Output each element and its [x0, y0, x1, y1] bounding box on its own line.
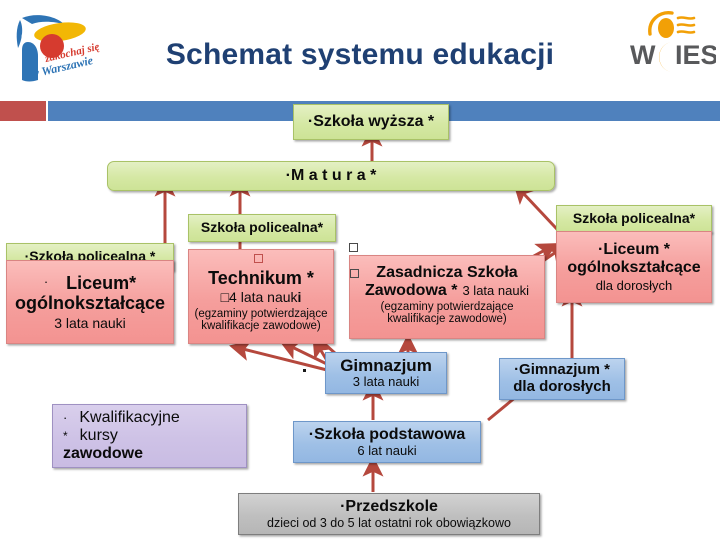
- node-zasadnicza-szkola-zawodowa[interactable]: Zasadnicza Szkoła Zawodowa * 3 lata nauk…: [349, 255, 545, 339]
- node-przedszkole[interactable]: ·Przedszkole dzieci od 3 do 5 lat ostatn…: [238, 493, 540, 535]
- zsz-square-bullet-left: [350, 269, 359, 278]
- node-matura-label: ·M a t u r a *: [286, 167, 377, 185]
- node-gimnazjum-doroslych-title: ·Gimnazjum *: [514, 362, 610, 379]
- header-band-red: [0, 101, 46, 121]
- node-szkola-policealna-right-label: Szkoła policealna*: [573, 211, 695, 227]
- liceum-bullet: ·: [44, 275, 48, 290]
- zakochaj-sie-w-warszawie-logo: zakochaj się w Warszawie: [6, 6, 102, 88]
- node-przedszkole-sub: dzieci od 3 do 5 lat ostatni rok obowiąz…: [267, 516, 511, 530]
- node-technikum-sub: □4 lata nauk: [221, 289, 298, 305]
- kursy-line-1: Kwalifikacyjne: [79, 409, 179, 427]
- node-zsz-sub: 3 lata nauki: [462, 284, 529, 299]
- node-szkola-wyzsza-label: ·Szkoła wyższa *: [308, 113, 434, 131]
- node-liceum-title2: ogólnokształcące: [15, 293, 165, 313]
- node-kwalifikacyjne-kursy-zawodowe[interactable]: · Kwalifikacyjne * kursy zawodowe: [52, 404, 247, 468]
- node-zsz-note1: (egzaminy potwierdzające: [381, 301, 514, 314]
- node-szkola-policealna-right[interactable]: Szkoła policealna*: [556, 205, 712, 233]
- page-title: Schemat systemu edukacji: [120, 32, 600, 78]
- node-gimnazjum-title: Gimnazjum: [340, 356, 432, 375]
- kursy-line-3: zawodowe: [63, 445, 143, 463]
- node-szkola-podstawowa-title: ·Szkoła podstawowa: [309, 426, 465, 444]
- node-szkola-podstawowa[interactable]: ·Szkoła podstawowa 6 lat nauki: [293, 421, 481, 463]
- node-liceum-title: Liceum*: [66, 273, 136, 293]
- node-gimnazjum-dla-doroslych[interactable]: ·Gimnazjum * dla dorosłych: [499, 358, 625, 400]
- svg-text:W: W: [630, 40, 656, 70]
- node-szkola-policealna-mid[interactable]: Szkoła policealna*: [188, 214, 336, 242]
- node-liceum-dla-doroslych[interactable]: ·Liceum * ogólnokształcące dla dorosłych: [556, 231, 712, 303]
- node-matura[interactable]: ·M a t u r a *: [107, 161, 555, 191]
- node-liceum-doroslych-title: ·Liceum *: [598, 241, 670, 259]
- kursy-bullet-1: ·: [63, 411, 67, 426]
- gimnazjum-stray-dot: [303, 369, 306, 372]
- node-zsz-title2: Zawodowa *: [365, 282, 457, 300]
- node-szkola-wyzsza[interactable]: ·Szkoła wyższa *: [293, 104, 449, 140]
- kursy-bullet-2: *: [63, 430, 68, 443]
- node-szkola-policealna-mid-label: Szkoła policealna*: [201, 220, 323, 236]
- kursy-line-2: kursy: [80, 427, 118, 445]
- zsz-square-bullet-top: [349, 243, 358, 252]
- node-technikum-sub-tail: i: [298, 289, 302, 305]
- svg-text:IES: IES: [675, 40, 716, 70]
- wcies-logo: W IES: [628, 6, 716, 88]
- node-liceum-doroslych-sub: dla dorosłych: [596, 279, 673, 294]
- node-zsz-note2: kwalifikacje zawodowe): [387, 313, 507, 326]
- node-przedszkole-title: ·Przedszkole: [340, 498, 438, 516]
- node-szkola-podstawowa-sub: 6 lat nauki: [357, 444, 416, 459]
- node-gimnazjum-sub: 3 lata nauki: [353, 375, 420, 390]
- node-gimnazjum[interactable]: Gimnazjum 3 lata nauki: [325, 352, 447, 394]
- node-liceum-doroslych-title2: ogólnokształcące: [567, 259, 700, 277]
- node-gimnazjum-doroslych-title2: dla dorosłych: [513, 379, 611, 396]
- node-liceum-sub: 3 lata nauki: [54, 316, 126, 332]
- diagram-canvas: Schemat systemu edukacji zakochaj się w …: [0, 0, 720, 540]
- node-technikum-title: Technikum *: [208, 268, 314, 288]
- node-liceum-ogolnoksztalcace[interactable]: · Liceum* ogólnokształcące 3 lata nauki: [6, 260, 174, 344]
- node-technikum-note2: kwalifikacje zawodowe): [201, 320, 321, 333]
- node-technikum-note1: (egzaminy potwierdzające: [195, 308, 328, 321]
- node-zsz-title: Zasadnicza Szkoła: [376, 264, 517, 282]
- node-technikum[interactable]: Technikum * □4 lata nauki (egzaminy potw…: [188, 249, 334, 344]
- technikum-square-bullet: [254, 254, 263, 263]
